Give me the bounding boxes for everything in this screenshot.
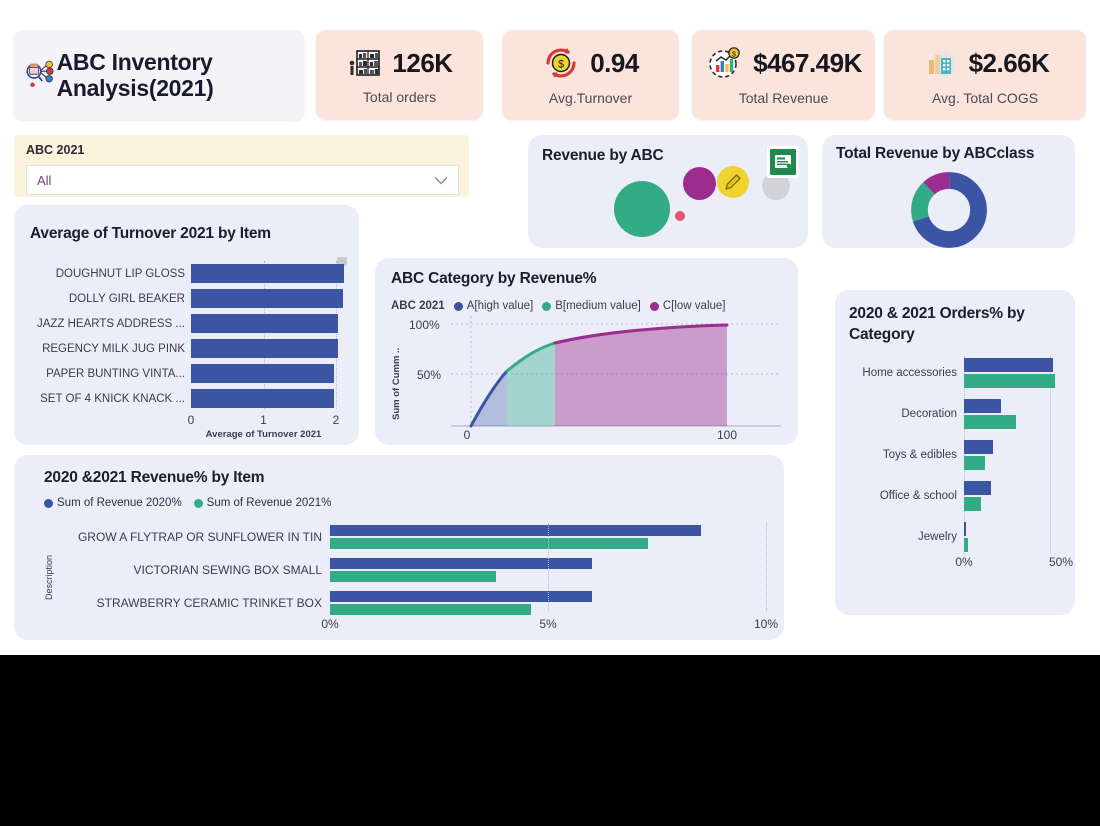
x-tick: 0% [321, 617, 338, 631]
x-tick: 100 [717, 428, 737, 442]
factory-cogs-icon [921, 44, 959, 82]
shelf-inventory-icon [346, 45, 382, 81]
bar-turnover-1[interactable] [191, 289, 343, 308]
chart-legend: ABC 2021 A[high value] B[medium value] C… [391, 300, 726, 312]
bar-label: Jewelry [849, 531, 964, 543]
legend-item-c[interactable]: C[low value] [650, 300, 726, 312]
bar-2020-office[interactable] [964, 481, 991, 495]
legend-item-2021[interactable]: Sum of Revenue 2021% [194, 497, 332, 509]
pareto-area-c[interactable] [555, 325, 727, 426]
legend-label: Sum of Revenue 2020% [57, 497, 182, 509]
bar-2021-office[interactable] [964, 497, 981, 511]
x-tick: 1 [260, 413, 267, 427]
svg-text:$: $ [558, 59, 564, 71]
bubble-b-medium[interactable] [614, 181, 670, 237]
legend-item-a[interactable]: A[high value] [454, 300, 534, 312]
kpi-value: 0.94 [590, 48, 639, 79]
slicer-label: ABC 2021 [26, 143, 459, 157]
bar-2021-2[interactable] [330, 604, 531, 615]
bar-row[interactable]: VICTORIAN SEWING BOX SMALL [58, 558, 766, 582]
bar-2020-home[interactable] [964, 358, 1053, 372]
chart-title: ABC Category by Revenue% [391, 270, 596, 288]
x-tick: 5% [539, 617, 556, 631]
turnover-coin-icon: $ [542, 44, 580, 82]
x-axis-ticks: 0% 5% 10% [330, 617, 766, 631]
chart-title: Average of Turnover 2021 by Item [30, 225, 271, 243]
bar-turnover-5[interactable] [191, 389, 334, 408]
turnover-bar-rows: DOUGHNUT LIP GLOSS DOLLY GIRL BEAKER JAZ… [28, 263, 346, 413]
revenue-chart-icon: $ [705, 44, 743, 82]
chart-legend: Sum of Revenue 2020% Sum of Revenue 2021… [44, 497, 331, 509]
chart-title: 2020 &2021 Revenue% by Item [44, 469, 264, 487]
kpi-card-total-revenue[interactable]: $ $467.49K Total Revenue [692, 30, 875, 120]
bar-turnover-4[interactable] [191, 364, 334, 383]
chart-title: 2020 & 2021 Orders% by Category [849, 304, 1039, 346]
chart-panel-abc-category-by-revenue: ABC Category by Revenue% ABC 2021 A[high… [375, 258, 798, 445]
x-tick: 0 [464, 428, 471, 442]
bar-2020-jewelry[interactable] [964, 522, 966, 536]
svg-text:$: $ [732, 52, 736, 59]
bar-2020-0[interactable] [330, 525, 701, 536]
kpi-label: Avg.Turnover [549, 90, 632, 106]
bar-label: DOUGHNUT LIP GLOSS [28, 268, 191, 280]
bar-row[interactable]: Office & school [849, 481, 1061, 511]
bar-label: VICTORIAN SEWING BOX SMALL [58, 563, 330, 577]
bar-2020-2[interactable] [330, 591, 592, 602]
bar-2021-0[interactable] [330, 538, 648, 549]
bar-row[interactable]: DOLLY GIRL BEAKER [28, 288, 346, 309]
x-tick: 50% [1049, 555, 1073, 569]
pareto-plot [451, 316, 781, 438]
x-tick: 0 [188, 413, 195, 427]
y-axis-title: Sum of Cumm .. [391, 320, 402, 420]
x-axis-title: Average of Turnover 2021 [191, 429, 336, 440]
bar-label: GROW A FLYTRAP OR SUNFLOWER IN TIN [58, 530, 330, 544]
bar-row[interactable]: Jewelry [849, 522, 1061, 552]
chart-title: Revenue by ABC [542, 147, 664, 165]
category-bar-rows: Home accessories Decoration Toys & edibl… [849, 358, 1061, 563]
bar-row[interactable]: STRAWBERRY CERAMIC TRINKET BOX [58, 591, 766, 615]
bar-2020-toys[interactable] [964, 440, 993, 454]
bar-label: REGENCY MILK JUG PINK [28, 343, 191, 355]
donut-chart [910, 171, 988, 249]
kpi-value: 126K [392, 48, 452, 79]
x-tick: 2 [333, 413, 340, 427]
slicer-selected-value: All [37, 173, 51, 188]
report-card-icon[interactable] [766, 145, 800, 179]
kpi-label: Avg. Total COGS [932, 90, 1038, 106]
bar-row[interactable]: Home accessories [849, 358, 1061, 388]
y-axis-title: Description [44, 530, 54, 600]
dashboard-canvas: ABC Inventory Analysis(2021) 126K Total … [0, 0, 1100, 655]
bar-label: DOLLY GIRL BEAKER [28, 293, 191, 305]
kpi-label: Total Revenue [739, 90, 829, 106]
bar-2021-1[interactable] [330, 571, 496, 582]
bar-row[interactable]: SET OF 4 KNICK KNACK ... [28, 388, 346, 409]
bar-label: Home accessories [849, 367, 964, 379]
y-tick: 100% [409, 318, 440, 332]
bar-label: JAZZ HEARTS ADDRESS ... [28, 318, 191, 330]
bar-row[interactable]: Toys & edibles [849, 440, 1061, 470]
legend-label: A[high value] [467, 300, 534, 312]
chevron-down-icon[interactable] [434, 176, 448, 185]
kpi-label: Total orders [363, 89, 436, 105]
bar-row[interactable]: REGENCY MILK JUG PINK [28, 338, 346, 359]
bubble-c-low[interactable] [683, 167, 716, 200]
bar-row[interactable]: JAZZ HEARTS ADDRESS ... [28, 313, 346, 334]
bar-turnover-3[interactable] [191, 339, 338, 358]
bar-2021-toys[interactable] [964, 456, 985, 470]
pencil-edit-icon[interactable] [716, 165, 750, 199]
legend-item-b[interactable]: B[medium value] [542, 300, 641, 312]
bar-row[interactable]: Decoration [849, 399, 1061, 429]
x-tick: 0% [955, 555, 972, 569]
page-title: ABC Inventory Analysis(2021) [57, 49, 296, 102]
x-tick: 10% [754, 617, 778, 631]
kpi-value: $2.66K [969, 48, 1050, 79]
x-axis-ticks: 0% 50% [964, 555, 1061, 569]
bar-label: STRAWBERRY CERAMIC TRINKET BOX [58, 596, 330, 610]
revenue-bar-rows: GROW A FLYTRAP OR SUNFLOWER IN TIN VICTO… [58, 525, 766, 624]
bar-label: Office & school [849, 490, 964, 502]
legend-item-2020[interactable]: Sum of Revenue 2020% [44, 497, 182, 509]
y-tick: 50% [417, 368, 441, 382]
kpi-card-avg-total-cogs[interactable]: $2.66K Avg. Total COGS [884, 30, 1086, 120]
kpi-value: $467.49K [753, 48, 862, 79]
bar-label: Decoration [849, 408, 964, 420]
bar-row[interactable]: GROW A FLYTRAP OR SUNFLOWER IN TIN [58, 525, 766, 549]
bar-2020-decoration[interactable] [964, 399, 1001, 413]
bar-row[interactable]: DOUGHNUT LIP GLOSS [28, 263, 346, 284]
legend-title: ABC 2021 [391, 300, 445, 312]
slicer-dropdown[interactable]: All [26, 165, 459, 195]
bar-turnover-0[interactable] [191, 264, 344, 283]
bar-turnover-2[interactable] [191, 314, 338, 333]
chart-panel-orders-pct-by-category: 2020 & 2021 Orders% by Category Home acc… [835, 290, 1075, 615]
abc-2021-slicer[interactable]: ABC 2021 All [14, 135, 469, 197]
chart-panel-turnover-by-item: Average of Turnover 2021 by Item DOUGHNU… [14, 205, 359, 445]
kpi-card-total-orders[interactable]: 126K Total orders [316, 30, 483, 120]
chart-panel-revenue-by-abc: Revenue by ABC [528, 135, 808, 248]
dashboard-title-card: ABC Inventory Analysis(2021) [14, 30, 304, 120]
bar-row[interactable]: PAPER BUNTING VINTA... [28, 363, 346, 384]
bar-2021-home[interactable] [964, 374, 1055, 388]
chart-title: Total Revenue by ABCclass [836, 145, 1034, 163]
bar-2020-1[interactable] [330, 558, 592, 569]
bar-label: SET OF 4 KNICK KNACK ... [28, 393, 191, 405]
bar-2021-jewelry[interactable] [964, 538, 968, 552]
chart-panel-total-revenue-by-abcclass: Total Revenue by ABCclass [822, 135, 1075, 248]
bubble-a-high[interactable] [675, 211, 685, 221]
chart-panel-revenue-pct-by-item: 2020 &2021 Revenue% by Item Sum of Reven… [14, 455, 784, 640]
kpi-card-avg-turnover[interactable]: $ 0.94 Avg.Turnover [502, 30, 679, 120]
legend-label: B[medium value] [555, 300, 641, 312]
legend-label: C[low value] [663, 300, 726, 312]
x-axis-ticks: 0 1 2 [191, 413, 336, 427]
donut-slice-c[interactable] [919, 180, 978, 239]
bar-2021-decoration[interactable] [964, 415, 1016, 429]
bar-label: PAPER BUNTING VINTA... [28, 368, 191, 380]
bar-label: Toys & edibles [849, 449, 964, 461]
legend-label: Sum of Revenue 2021% [207, 497, 332, 509]
abc-analysis-icon [22, 52, 57, 98]
